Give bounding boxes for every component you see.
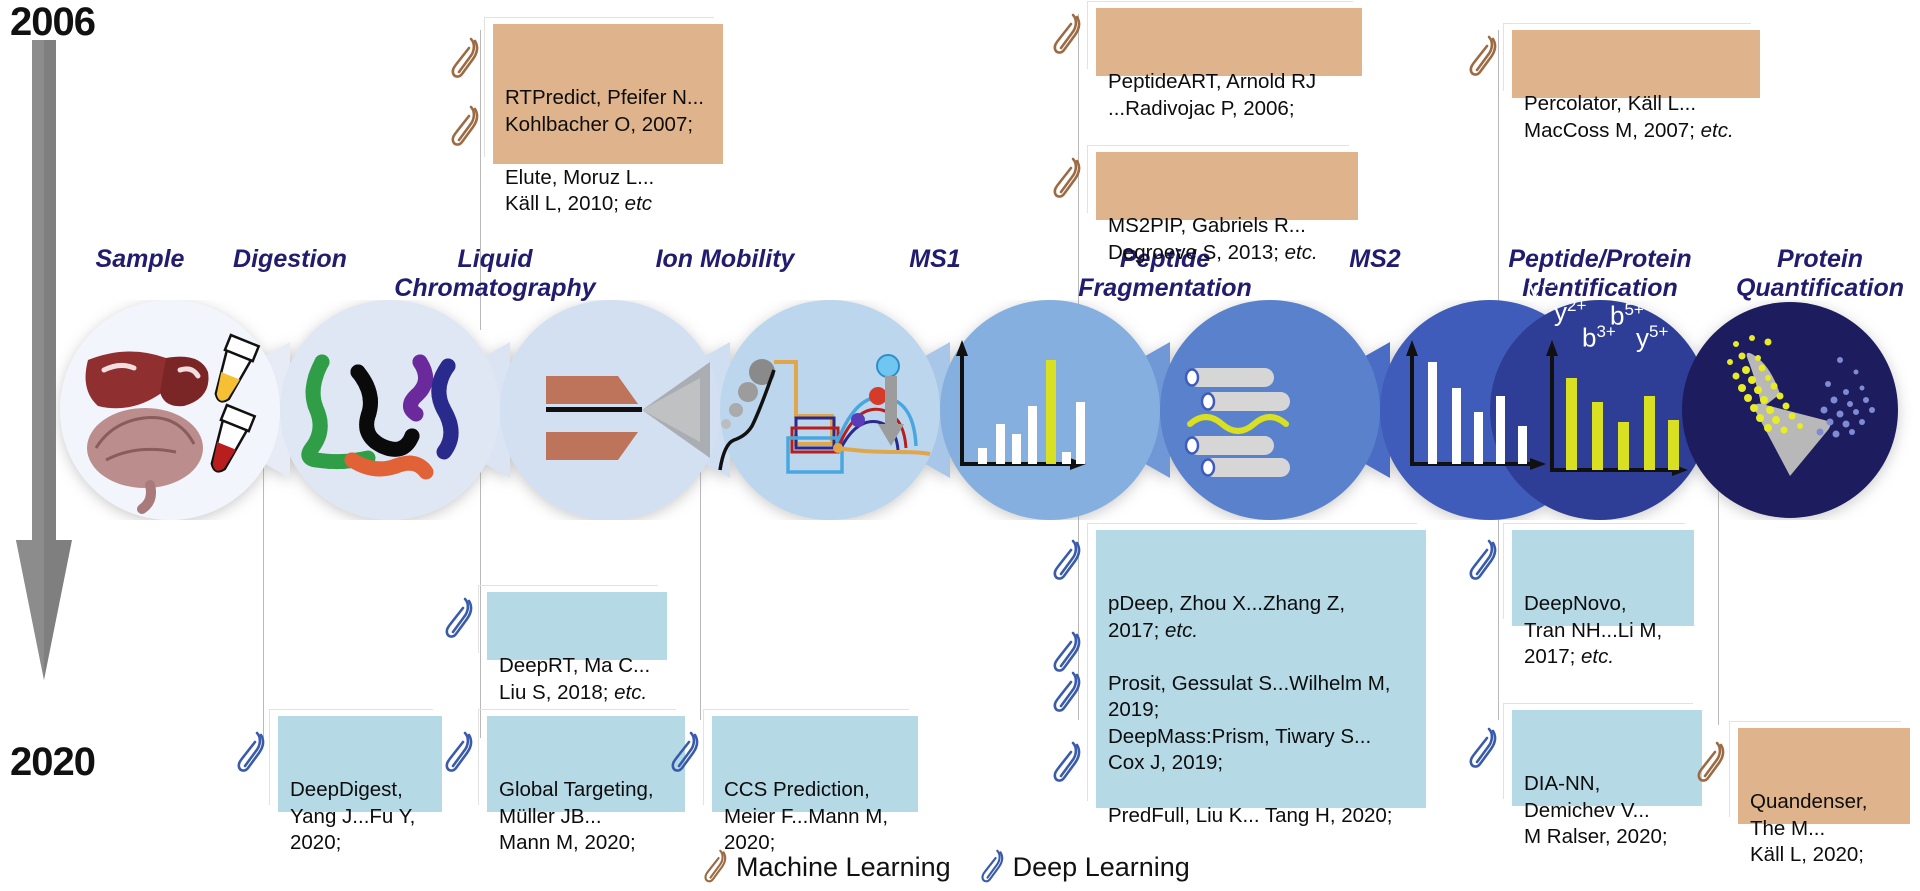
paperclip-icon — [1696, 736, 1730, 790]
note-card-fragmentation-dl-stack[interactable]: pDeep, Zhou X...Zhang Z, 2017; etc. Pros… — [1096, 530, 1426, 808]
paperclip-icon — [1468, 30, 1502, 84]
paperclip-icon — [977, 845, 1011, 889]
note-card-dia-nn[interactable]: DIA-NN, Demichev V... M Ralser, 2020; — [1512, 710, 1702, 806]
note-stack-shadow — [1503, 703, 1693, 799]
note-stack-shadow — [478, 585, 658, 653]
note-card-global-targeting[interactable]: Global Targeting, Müller JB... Mann M, 2… — [487, 716, 685, 812]
legend-item-deep-learning: Deep Learning — [977, 845, 1190, 889]
note-card-deepdigest[interactable]: DeepDigest, Yang J...Fu Y, 2020; — [278, 716, 442, 812]
paperclip-icon — [444, 726, 478, 780]
legend-item-machine-learning: Machine Learning — [700, 845, 951, 889]
note-card-peptideart[interactable]: PeptideART, Arnold RJ ...Radivojac P, 20… — [1096, 8, 1362, 76]
paperclip-icon — [450, 100, 484, 154]
stage-title-sample: Sample — [60, 245, 220, 274]
legend-label-machine-learning: Machine Learning — [736, 852, 951, 883]
note-card-ccs-prediction[interactable]: CCS Prediction, Meier F...Mann M, 2020; — [712, 716, 918, 812]
paperclip-icon — [1052, 736, 1086, 790]
legend: Machine Learning Deep Learning — [700, 845, 1190, 889]
note-stack-shadow — [1087, 1, 1353, 69]
paperclip-icon — [1468, 722, 1502, 776]
paperclip-icon — [444, 592, 478, 646]
note-stack-shadow — [703, 709, 909, 805]
note-card-quandenser[interactable]: Quandenser, The M... Käll L, 2020; — [1738, 728, 1910, 824]
legend-label-deep-learning: Deep Learning — [1013, 852, 1190, 883]
note-text: PeptideART, Arnold RJ ...Radivojac P, 20… — [1108, 70, 1316, 120]
stage-title-peptide-protein-identification: Peptide/Protein Identification — [1475, 245, 1725, 303]
pipeline-bubbles — [0, 300, 1920, 520]
paperclip-icon — [1052, 152, 1086, 206]
paperclip-icon — [1052, 8, 1086, 62]
note-text: DeepRT, Ma C... Liu S, 2018; etc. — [499, 654, 650, 704]
timeline-start-year: 2006 — [10, 0, 95, 45]
paperclip-icon — [450, 32, 484, 86]
stage-title-ion-mobility: Ion Mobility — [620, 245, 830, 274]
note-stack-shadow — [484, 17, 714, 157]
paperclip-icon — [1468, 534, 1502, 588]
paperclip-icon — [700, 845, 734, 889]
ion-label-y5: y5+ — [1636, 322, 1668, 354]
stage-title-liquid-chromatography: Liquid Chromatography — [385, 245, 605, 303]
note-stack-shadow — [1087, 523, 1417, 801]
note-card-percolator[interactable]: Percolator, Käll L... MacCoss M, 2007; e… — [1512, 30, 1760, 98]
stage-title-ms1: MS1 — [850, 245, 1020, 274]
note-stack-shadow — [1087, 145, 1349, 213]
paperclip-icon — [1052, 666, 1086, 720]
note-card-deepnovo[interactable]: DeepNovo, Tran NH...Li M, 2017; etc. — [1512, 530, 1694, 626]
note-stack-shadow — [1503, 23, 1751, 91]
paperclip-icon — [1052, 534, 1086, 588]
stage-title-digestion: Digestion — [200, 245, 380, 274]
note-text: Percolator, Käll L... MacCoss M, 2007; e… — [1524, 92, 1734, 142]
note-stack-shadow — [1503, 523, 1685, 619]
note-card-ms2pip[interactable]: MS2PIP, Gabriels R... Degroeve S, 2013; … — [1096, 152, 1358, 220]
paperclip-icon — [236, 726, 270, 780]
stage-title-protein-quantification: Protein Quantification — [1720, 245, 1920, 303]
note-card-rtpredict-elute[interactable]: RTPredict, Pfeifer N... Kohlbacher O, 20… — [493, 24, 723, 164]
note-stack-shadow — [269, 709, 433, 805]
note-stack-shadow — [478, 709, 676, 805]
note-card-deeprt[interactable]: DeepRT, Ma C... Liu S, 2018; etc. — [487, 592, 667, 660]
note-stack-shadow — [1729, 721, 1901, 817]
timeline-end-year: 2020 — [10, 740, 95, 785]
paperclip-icon — [670, 726, 704, 780]
note-text: MS2PIP, Gabriels R... Degroeve S, 2013; … — [1108, 214, 1318, 264]
